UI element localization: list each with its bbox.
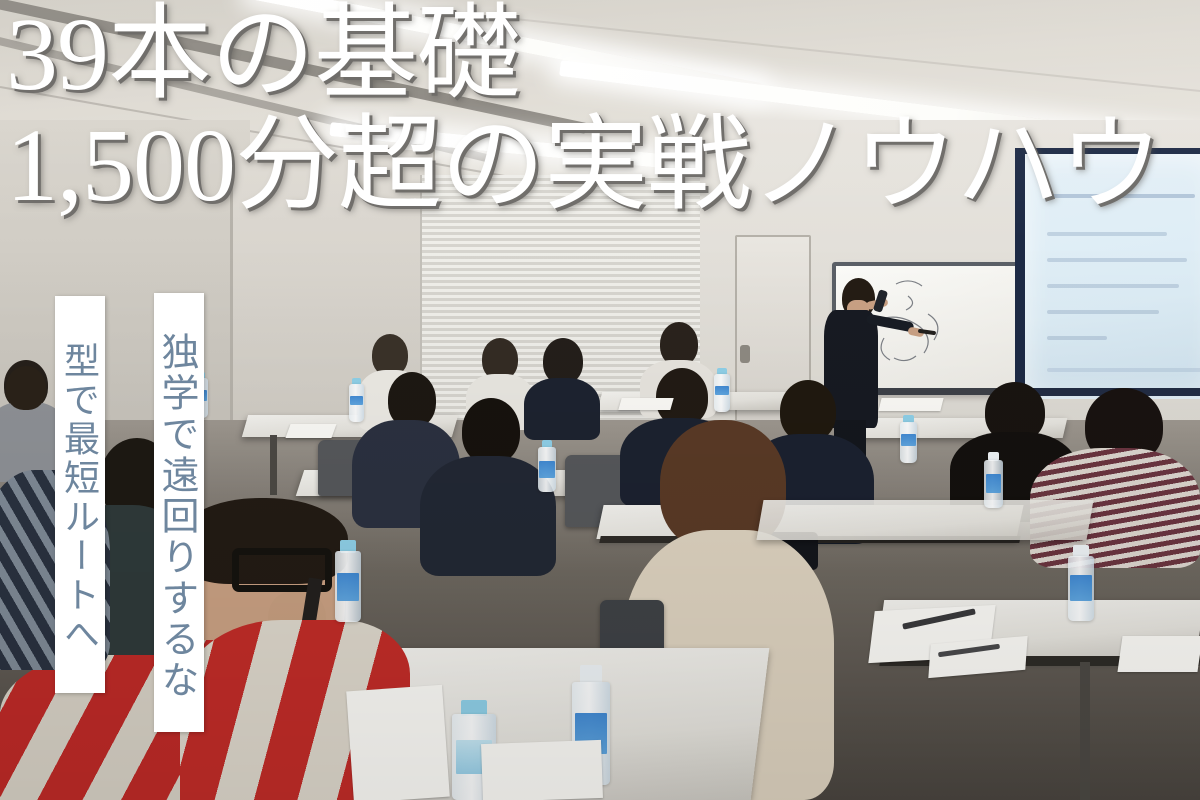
handout (878, 398, 943, 411)
handout (285, 424, 336, 438)
door-handle (740, 345, 750, 363)
water-bottle (984, 452, 1003, 508)
handout (618, 398, 673, 410)
desk-leg (270, 435, 277, 495)
seminar-poster: 39本の基礎 1,500分超の実戦ノウハウ 型で最短ルートへ 独学で遠回りするな (0, 0, 1200, 800)
water-bottle (538, 440, 556, 492)
projection-screen (1015, 148, 1200, 399)
caption-katade-saitan-route: 型で最短ルートへ (55, 296, 105, 693)
desk (756, 500, 1093, 540)
water-bottle (900, 415, 917, 463)
caption-dokugaku-toomawari: 独学で遠回りするな (154, 293, 204, 732)
water-bottle (335, 540, 361, 622)
handout (481, 740, 603, 800)
handout (346, 685, 450, 800)
water-bottle (714, 368, 730, 412)
water-bottle (1068, 545, 1094, 621)
water-bottle (349, 378, 364, 422)
handout (1117, 636, 1200, 672)
